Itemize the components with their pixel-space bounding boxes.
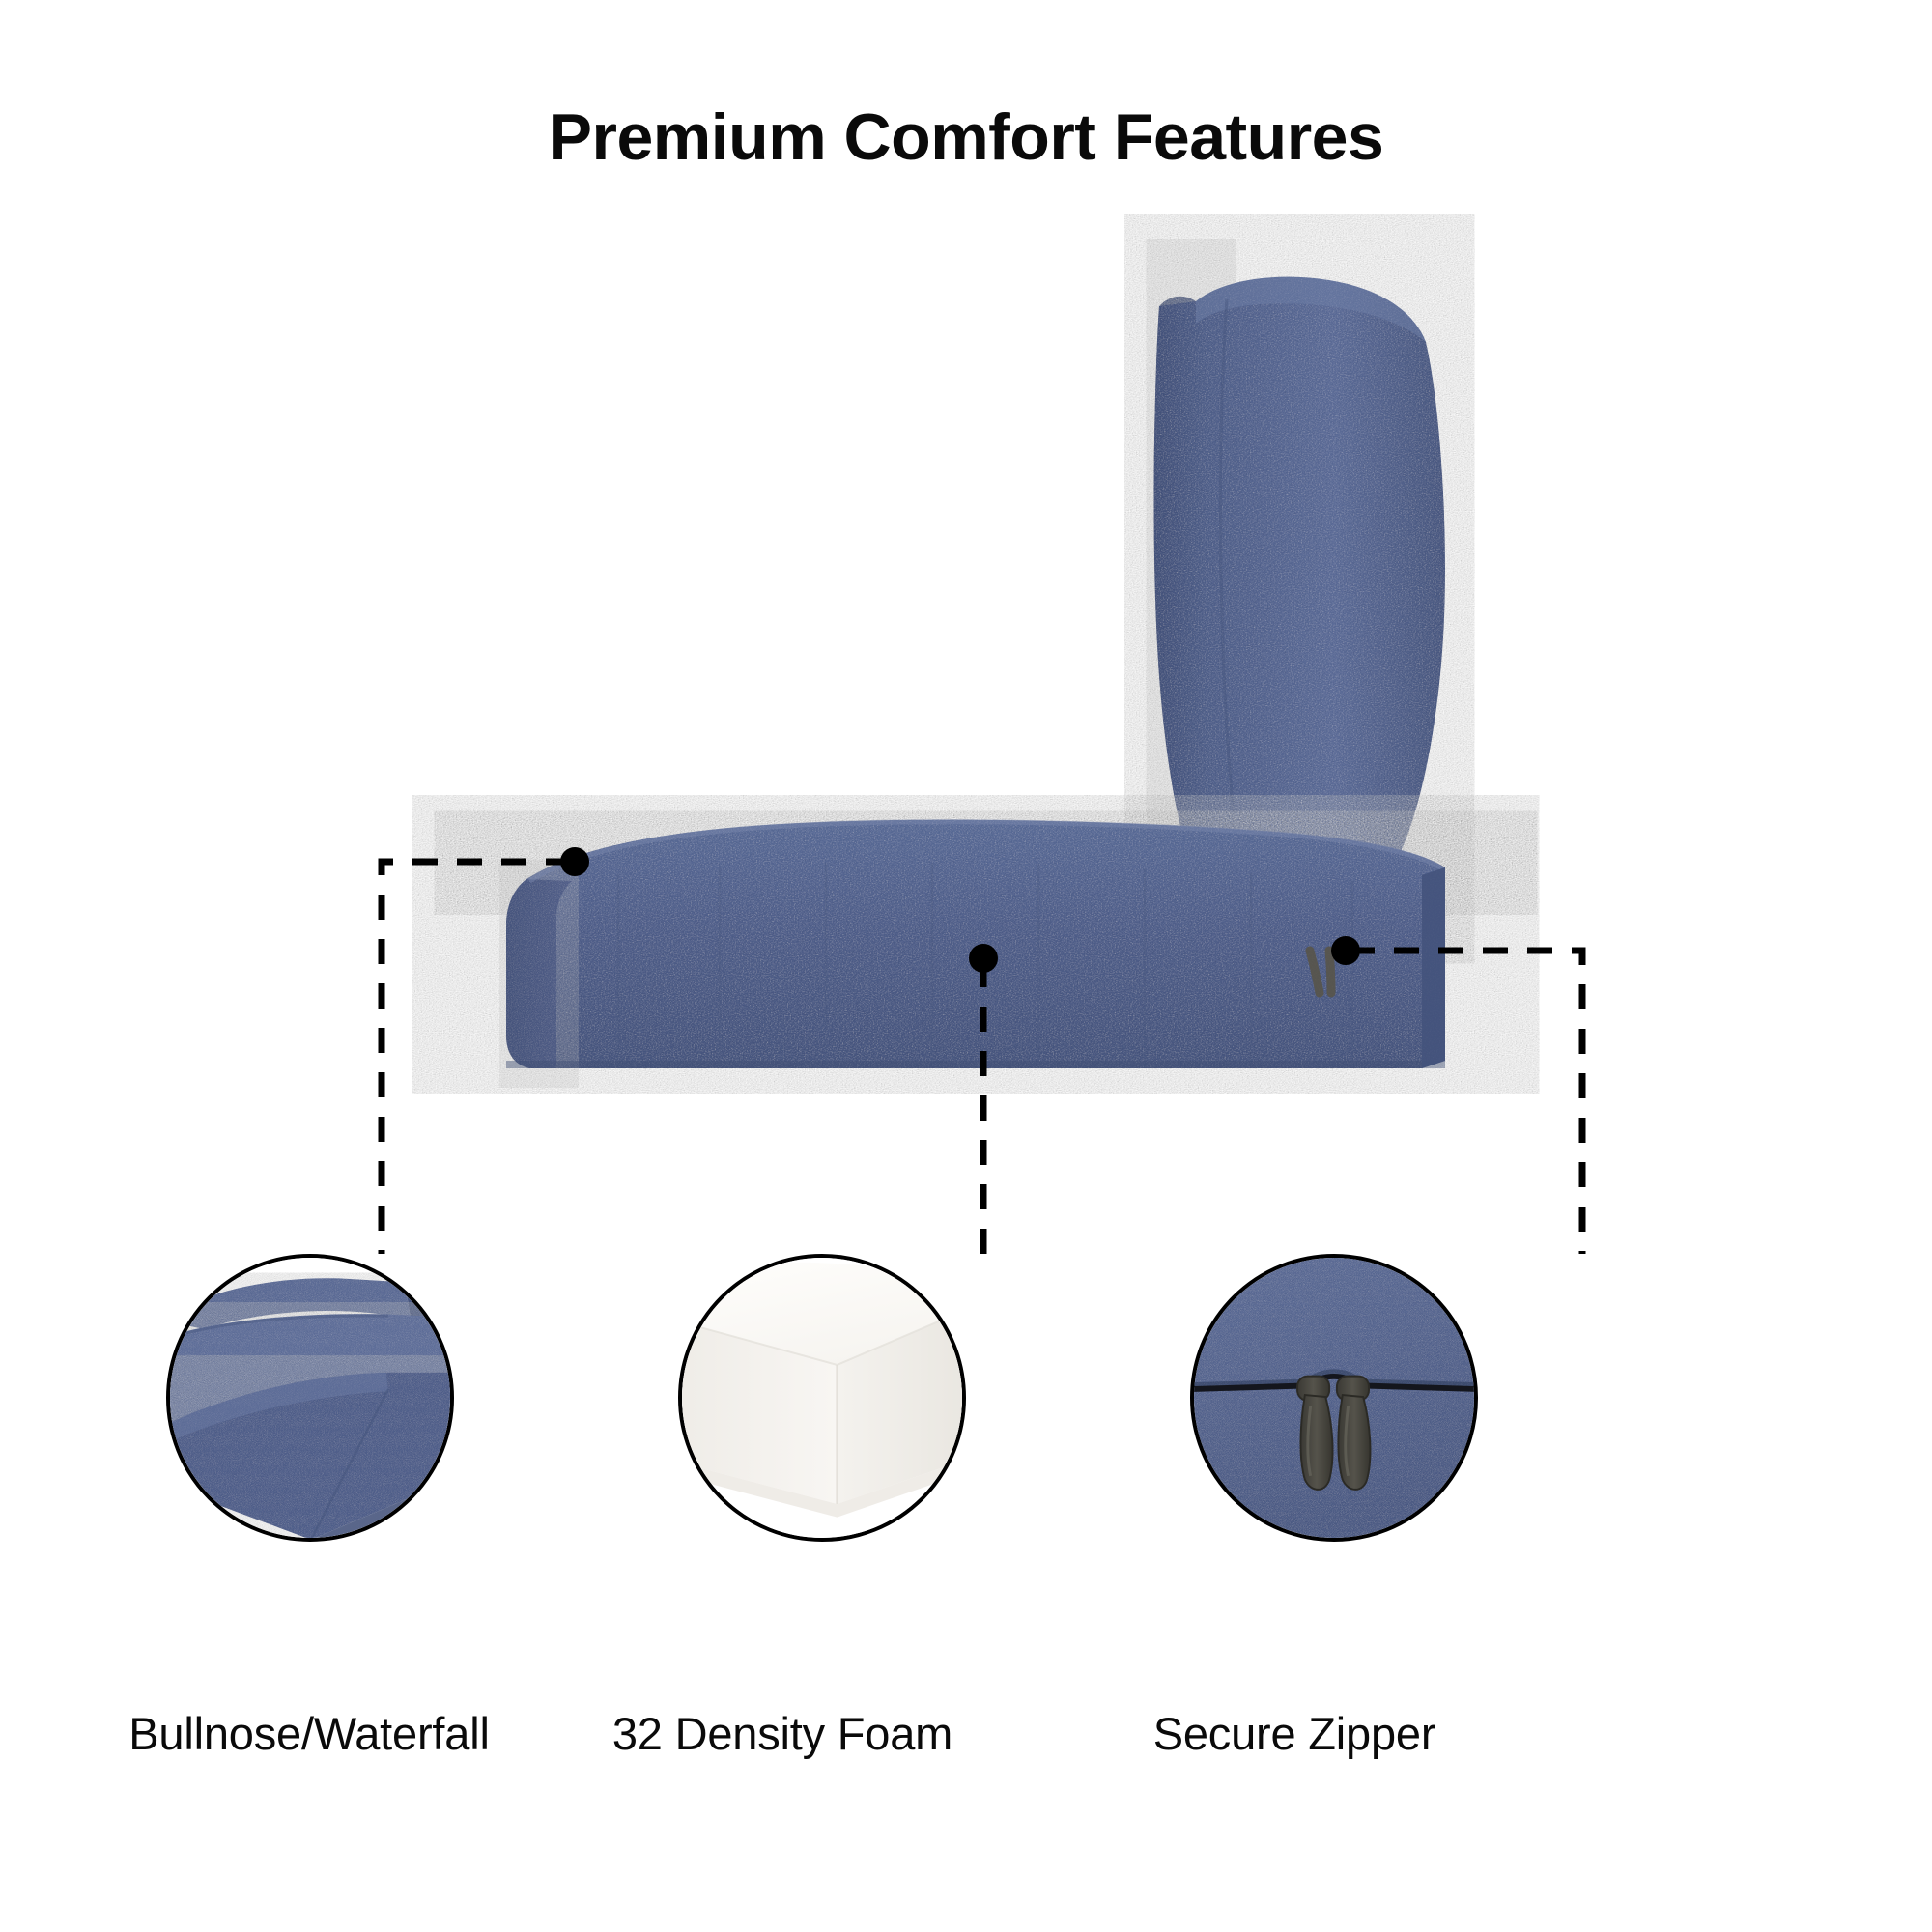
- seat-cushion: [506, 820, 1445, 1068]
- product-illustration: [0, 0, 1932, 1932]
- callout-dot-foam: [969, 944, 998, 973]
- callout-dot-bullnose: [560, 847, 589, 876]
- backrest-cushion: [1154, 277, 1445, 915]
- infographic-canvas: Premium Comfort Features: [0, 0, 1932, 1932]
- feature-caption-foam: 32 Density Foam: [512, 1708, 1053, 1760]
- detail-circle-bullnose: [166, 1254, 454, 1542]
- feature-caption-zipper: Secure Zipper: [1024, 1708, 1565, 1760]
- callout-dot-zipper: [1331, 936, 1360, 965]
- detail-circle-foam: [678, 1254, 966, 1542]
- feature-caption-bullnose: Bullnose/Waterfall: [39, 1708, 580, 1760]
- detail-circle-zipper: [1190, 1254, 1478, 1542]
